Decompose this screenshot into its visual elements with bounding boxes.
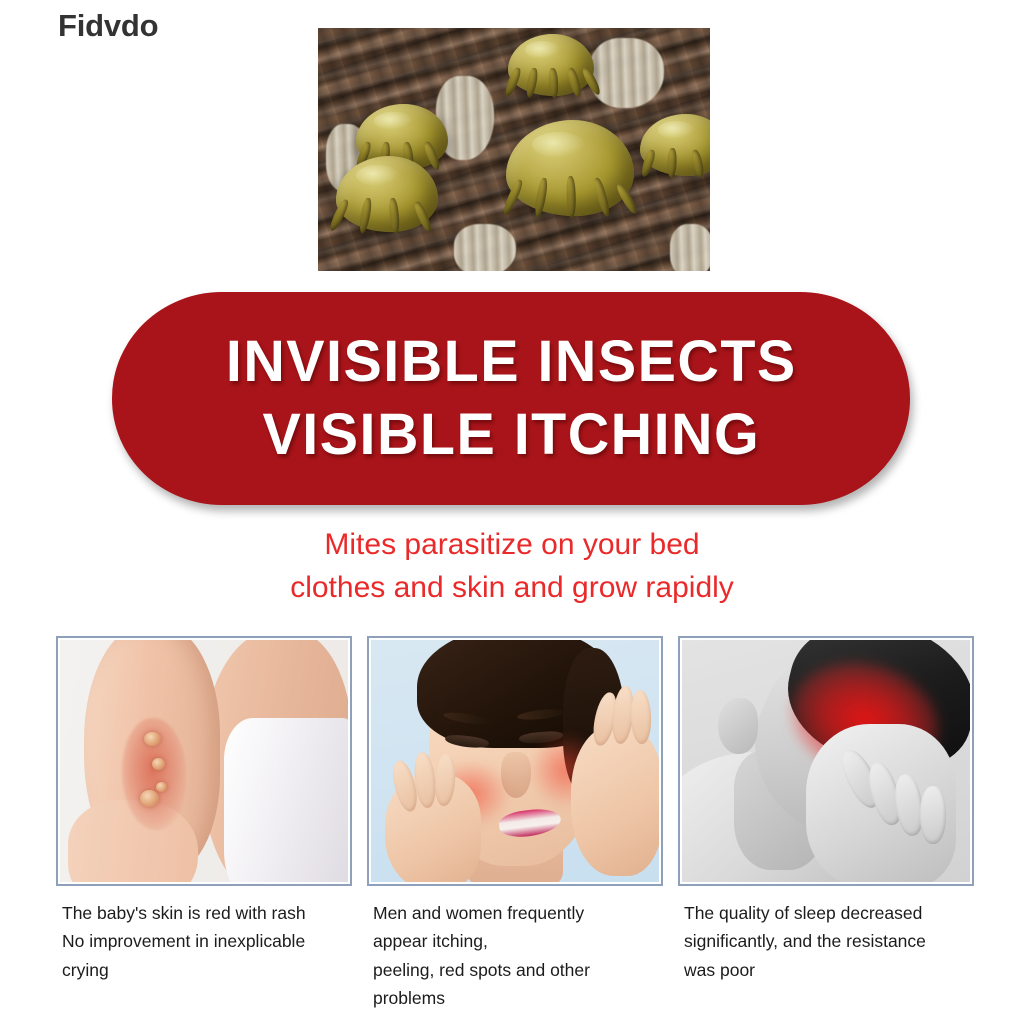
caption-line-1: The quality of sleep decreased bbox=[684, 899, 974, 927]
symptom-cards: The baby's skin is red with rash No impr… bbox=[56, 636, 972, 1012]
subtitle-line-2: clothes and skin and grow rapidly bbox=[0, 567, 1024, 610]
headline-banner: INVISIBLE INSECTS VISIBLE ITCHING bbox=[112, 292, 910, 505]
symptom-card: Men and women frequently appear itching,… bbox=[367, 636, 663, 1012]
caption-line-1: The baby's skin is red with rash bbox=[62, 899, 352, 927]
man-headache-poor-sleep-photo bbox=[682, 640, 970, 882]
card-caption: The baby's skin is red with rash No impr… bbox=[56, 899, 352, 984]
caption-line-4: problems bbox=[373, 984, 663, 1012]
headline-line-1: INVISIBLE INSECTS bbox=[226, 327, 797, 398]
symptom-card: The quality of sleep decreased significa… bbox=[678, 636, 974, 1012]
white-vest bbox=[224, 718, 348, 882]
rash-blister bbox=[156, 782, 167, 792]
woman-itching-face-photo bbox=[371, 640, 659, 882]
mite-highlight bbox=[525, 41, 561, 58]
brand-logo: Fidvdo bbox=[58, 8, 158, 44]
man-ear bbox=[718, 698, 758, 754]
woman-right-hand bbox=[571, 726, 659, 876]
caption-line-2: No improvement in inexplicable bbox=[62, 927, 352, 955]
dust-mite bbox=[640, 114, 710, 176]
dust-mite-microscopy-photo bbox=[318, 28, 710, 271]
rash-blister bbox=[140, 790, 159, 807]
rash-blister bbox=[152, 758, 165, 770]
card-caption: The quality of sleep decreased significa… bbox=[678, 899, 974, 984]
pale-fiber-cluster bbox=[670, 224, 710, 271]
pale-fiber-cluster bbox=[590, 38, 664, 108]
caption-line-3: crying bbox=[62, 956, 352, 984]
pale-fiber-cluster bbox=[454, 224, 516, 271]
photo-frame bbox=[678, 636, 974, 886]
caption-line-2: significantly, and the resistance bbox=[684, 927, 974, 955]
mite-highlight bbox=[658, 121, 695, 138]
subtitle-line-1: Mites parasitize on your bed bbox=[0, 524, 1024, 567]
card-caption: Men and women frequently appear itching,… bbox=[367, 899, 663, 1012]
photo-frame bbox=[56, 636, 352, 886]
man-finger bbox=[920, 786, 946, 844]
caption-line-2: appear itching, bbox=[373, 927, 663, 955]
dust-mite bbox=[506, 120, 634, 216]
dust-mite bbox=[508, 34, 594, 96]
subtitle: Mites parasitize on your bed clothes and… bbox=[0, 524, 1024, 609]
symptom-card: The baby's skin is red with rash No impr… bbox=[56, 636, 352, 1012]
woman-finger bbox=[630, 690, 652, 745]
caption-line-3: was poor bbox=[684, 956, 974, 984]
dust-mite bbox=[336, 156, 438, 232]
caption-line-3: peeling, red spots and other bbox=[373, 956, 663, 984]
headline-line-2: VISIBLE ITCHING bbox=[262, 400, 760, 471]
caption-line-1: Men and women frequently bbox=[373, 899, 663, 927]
photo-frame bbox=[367, 636, 663, 886]
rash-blister bbox=[144, 732, 161, 746]
baby-arm-rash-photo bbox=[60, 640, 348, 882]
